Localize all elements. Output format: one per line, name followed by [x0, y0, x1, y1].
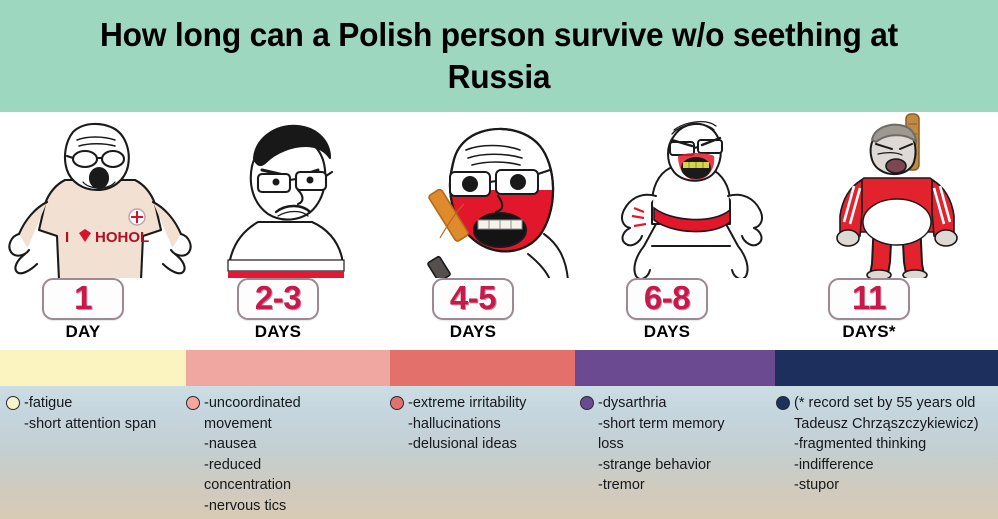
badge-unit-2: DAYS [255, 322, 301, 342]
badge-number-2: 2-3 [252, 281, 304, 315]
badge-cell-4: 6-8 DAYS [584, 278, 750, 350]
badge-unit-3: DAYS [450, 322, 496, 342]
figure-strip: I HOHOL [0, 112, 998, 280]
figure-cell-3 [398, 112, 598, 280]
symptom-list-1: -fatigue -short attention span [24, 393, 156, 519]
badge-number-5: 11 [843, 281, 895, 315]
badge-cell-1: 1 DAY [0, 278, 166, 350]
badge-cell-2: 2-3 DAYS [195, 278, 361, 350]
legend-dot-4 [580, 396, 594, 410]
symptom-column-4: -dysarthria -short term memory loss -str… [580, 386, 776, 519]
color-segment-4 [575, 350, 775, 386]
severity-color-bar [0, 350, 998, 386]
color-segment-2 [186, 350, 390, 386]
symptom-list-5: (* record set by 55 years old Tadeusz Ch… [794, 393, 979, 519]
badge-number-4: 6-8 [641, 281, 693, 315]
page-title: How long can a Polish person survive w/o… [86, 14, 912, 97]
symptom-column-3: -extreme irritability -hallucinations -d… [390, 386, 580, 519]
symptom-columns: -fatigue -short attention span -uncoordi… [0, 386, 998, 519]
badge-unit-1: DAY [66, 322, 101, 342]
shrugging-wojak-hohol-shirt-icon: I HOHOL [5, 112, 195, 280]
open-mouth [886, 159, 906, 173]
color-segment-1 [0, 350, 186, 386]
figure-cell-1: I HOHOL [0, 112, 200, 280]
color-segment-3 [390, 350, 575, 386]
badge-row: 1 DAY 2-3 DAYS 4-5 DAYS 6-8 DAYS 11 [0, 278, 998, 350]
flag-white-stripe [228, 260, 344, 271]
day-badge-5: 11 [828, 278, 910, 320]
symptom-list-2: -uncoordinated movement -nausea -reduced… [204, 393, 301, 519]
symptom-list-4: -dysarthria -short term memory loss -str… [598, 393, 725, 519]
color-segment-5 [775, 350, 998, 386]
legend-dot-1 [6, 396, 20, 410]
figure-cell-5 [798, 112, 998, 280]
symptom-list-3: -extreme irritability -hallucinations -d… [408, 393, 526, 519]
day-badge-4: 6-8 [626, 278, 708, 320]
shirt-text-i: I [65, 229, 69, 246]
red-tracksuit-wojak-with-club-icon [818, 112, 978, 280]
legend-dot-5 [776, 396, 790, 410]
legend-dot-3 [390, 396, 404, 410]
day-badge-1: 1 [42, 278, 124, 320]
symptom-column-5: (* record set by 55 years old Tadeusz Ch… [776, 386, 998, 519]
badge-number-3: 4-5 [447, 281, 499, 315]
day-badge-2: 2-3 [237, 278, 319, 320]
lunging-rage-wojak-red-sash-icon [608, 112, 788, 280]
symptom-column-2: -uncoordinated movement -nausea -reduced… [186, 386, 390, 519]
figure-cell-4 [598, 112, 798, 280]
figure-cell-2 [200, 112, 398, 280]
badge-number-1: 1 [57, 281, 109, 315]
day-badge-3: 4-5 [432, 278, 514, 320]
angry-black-haired-wojak-icon [214, 112, 384, 280]
symptom-column-1: -fatigue -short attention span [6, 386, 192, 519]
badge-cell-5: 11 DAYS* [786, 278, 952, 350]
header-banner: How long can a Polish person survive w/o… [0, 0, 998, 112]
badge-unit-5: DAYS* [842, 322, 895, 342]
legend-dot-2 [186, 396, 200, 410]
tracksuit-white-panel [863, 199, 931, 245]
badge-cell-3: 4-5 DAYS [390, 278, 556, 350]
shirt-text-hohol: HOHOL [95, 229, 149, 246]
badge-unit-4: DAYS [644, 322, 690, 342]
screaming-polish-flag-face-wojak-icon [408, 112, 588, 280]
infographic-root: How long can a Polish person survive w/o… [0, 0, 998, 519]
